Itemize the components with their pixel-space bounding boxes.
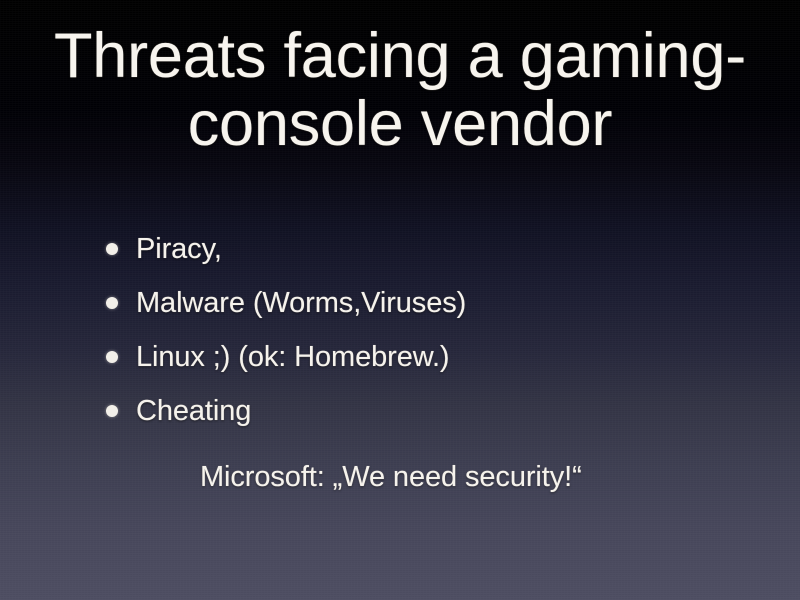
bullet-item-label: Linux ;) (ok: Homebrew.) [136,340,450,374]
bullet-dot-icon [106,351,118,363]
list-item: Linux ;) (ok: Homebrew.) [104,330,466,384]
slide-footnote-quote: Microsoft: „We need security!“ [200,460,582,494]
slide-title: Threats facing a gaming- console vendor [0,22,800,158]
list-item: Piracy, [104,222,466,276]
slide-title-line-2: console vendor [0,90,800,158]
bullet-item-label: Piracy, [136,232,222,266]
list-item: Cheating [104,384,466,438]
slide-title-line-1: Threats facing a gaming- [0,22,800,90]
presentation-slide: Threats facing a gaming- console vendor … [0,0,800,600]
bullet-item-label: Malware (Worms,Viruses) [136,286,466,320]
bullet-dot-icon [106,297,118,309]
bullet-dot-icon [106,405,118,417]
bullet-dot-icon [106,243,118,255]
bullet-list: Piracy, Malware (Worms,Viruses) Linux ;)… [104,222,466,438]
list-item: Malware (Worms,Viruses) [104,276,466,330]
bullet-item-label: Cheating [136,394,251,428]
